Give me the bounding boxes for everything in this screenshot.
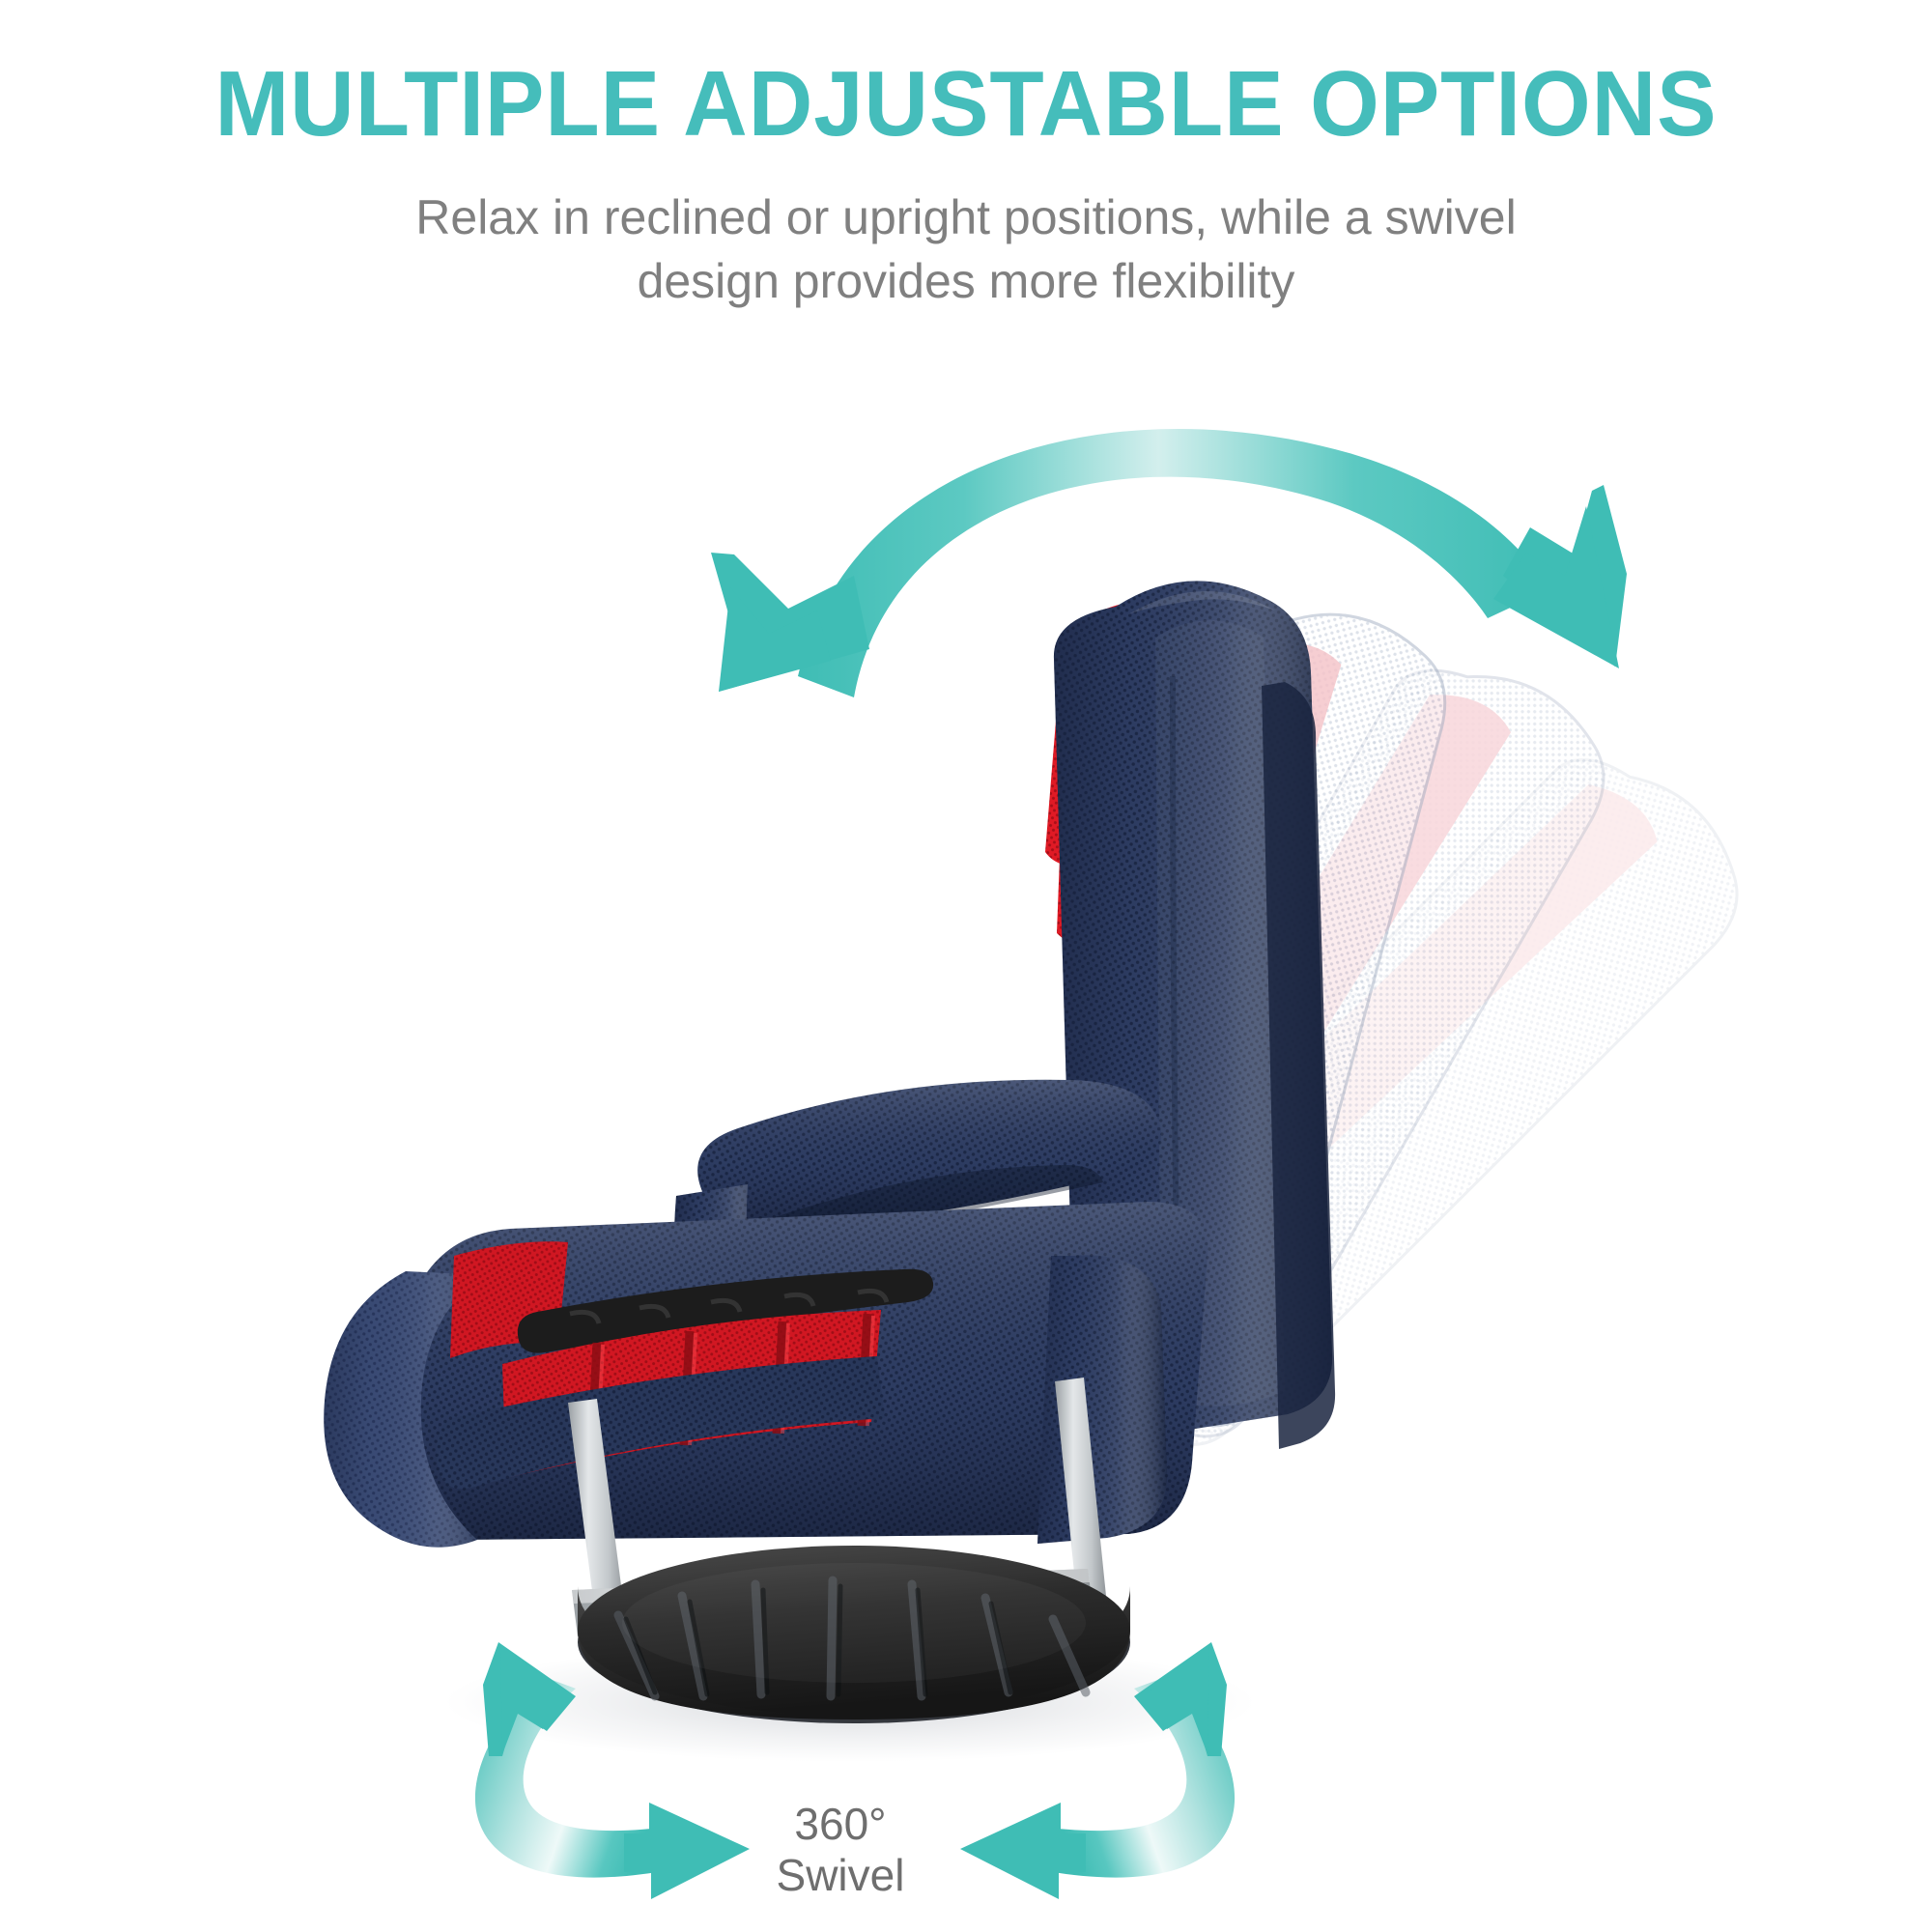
swivel-base [578, 1546, 1130, 1723]
chair-scene-svg [0, 0, 1932, 1932]
swivel-label: 360° Swivel [705, 1799, 976, 1902]
infographic-page: MULTIPLE ADJUSTABLE OPTIONS Relax in rec… [0, 0, 1932, 1932]
swivel-word: Swivel [705, 1850, 976, 1901]
product-illustration: 360° Swivel [0, 0, 1932, 1932]
swivel-degrees: 360° [705, 1799, 976, 1850]
